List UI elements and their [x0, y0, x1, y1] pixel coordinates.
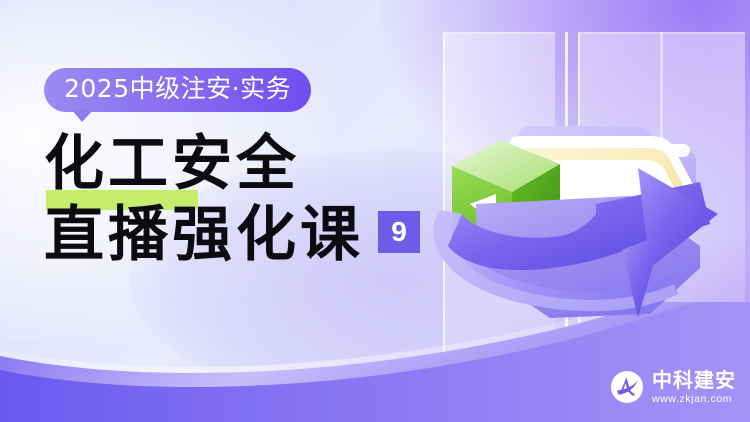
course-badge-label: 2025中级注安·实务	[64, 74, 291, 103]
brand-url: www.zkjan.com	[652, 394, 736, 405]
title-line-2: 直播强化课	[44, 200, 364, 270]
text-column: 2025中级注安·实务 化工安全 直播强化课9	[44, 68, 464, 266]
brand-name: 中科建安	[652, 370, 736, 390]
course-badge: 2025中级注安·实务	[44, 68, 311, 112]
logo-text-block: 中科建安 www.zkjan.com	[652, 370, 736, 405]
course-poster: 2025中级注安·实务 化工安全 直播强化课9 中科建安 www.zkjan.c…	[0, 0, 750, 422]
title-line-1: 化工安全	[44, 134, 464, 195]
badge-tail	[72, 110, 93, 122]
title-block: 化工安全 直播强化课9	[44, 134, 464, 266]
brand-logo[interactable]: 中科建安 www.zkjan.com	[610, 370, 736, 405]
title-line-2-row: 直播强化课9	[44, 205, 464, 266]
zkjan-circle-mark-icon	[610, 370, 644, 404]
episode-badge: 9	[378, 211, 420, 253]
